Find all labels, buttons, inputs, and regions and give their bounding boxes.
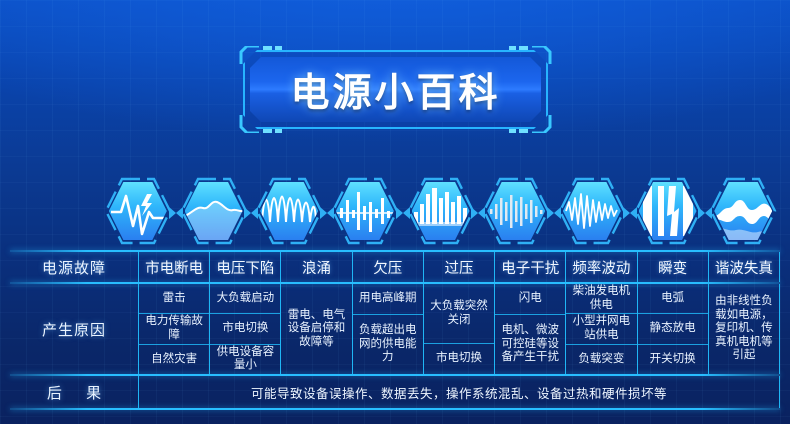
hex-icon-cell [100, 173, 176, 249]
cause-cell: 闪电 [495, 284, 565, 314]
column-header: 浪涌 [302, 257, 331, 278]
table-rule [10, 408, 780, 410]
table-column: 瞬变 [637, 252, 708, 282]
hex-icon-cell [478, 173, 554, 249]
row-label-result: 后 果 [10, 376, 138, 408]
cause-cell-merged: 由非线性负载如电源，复印机、传真机电机等引起 [709, 284, 779, 374]
table-column: 谐波失真 [708, 252, 780, 282]
title-banner: 电源小百科 [243, 50, 548, 129]
cause-cell: 自然灾害 [139, 344, 209, 374]
table-column: 柴油发电机供电 小型并网电站供电 负载突变 [565, 284, 636, 374]
table-column: 雷电、电气设备启停和故障等 [280, 284, 351, 374]
cause-cell: 供电设备容量小 [210, 344, 280, 374]
column-header: 过压 [444, 257, 473, 278]
hex-icon-cell [403, 173, 479, 249]
cause-cell: 静态放电 [638, 313, 708, 343]
table-header-row: 电源故障 市电断电 电压下陷 浪涌 欠压 过压 电子干扰 频率波动 瞬变 谐波失… [10, 252, 780, 282]
table-column: 电弧 静态放电 开关切换 [637, 284, 708, 374]
fault-table: 电源故障 市电断电 电压下陷 浪涌 欠压 过压 电子干扰 频率波动 瞬变 谐波失… [10, 250, 780, 410]
table-result-row: 后 果 可能导致设备误操作、数据丢失，操作系统混乱、设备过热和硬件损坏等 [10, 376, 780, 408]
table-column: 大负载启动 市电切换 供电设备容量小 [209, 284, 280, 374]
cause-cell: 负载突变 [566, 344, 636, 374]
row-label-cause: 产生原因 [10, 284, 138, 374]
table-column: 由非线性负载如电源，复印机、传真机电机等引起 [708, 284, 780, 374]
table-column: 雷击 电力传输故障 自然灾害 [138, 284, 209, 374]
table-column: 用电高峰期 负载超出电网的供电能力 [352, 284, 423, 374]
column-header: 欠压 [373, 257, 402, 278]
table-cause-row: 产生原因 雷击 电力传输故障 自然灾害 大负载启动 市电切换 供电设备容量小 雷… [10, 284, 780, 374]
cause-cell: 柴油发电机供电 [566, 284, 636, 313]
table-column: 大负载突然关闭 市电切换 [423, 284, 494, 374]
column-header: 谐波失真 [715, 257, 773, 278]
cause-cell: 市电切换 [210, 313, 280, 343]
cause-cell-merged: 雷电、电气设备启停和故障等 [281, 284, 351, 374]
table-column: 欠压 [352, 252, 423, 282]
cause-cell: 电弧 [638, 284, 708, 313]
cause-cell: 电力传输故障 [139, 313, 209, 343]
cause-cell: 电机、微波可控硅等设备产生干扰 [495, 314, 565, 374]
row-label-fault: 电源故障 [10, 252, 138, 282]
column-header: 瞬变 [658, 257, 687, 278]
cause-cell: 大负载启动 [210, 284, 280, 313]
cause-cell: 负载超出电网的供电能力 [353, 314, 423, 374]
table-column: 电子干扰 [494, 252, 565, 282]
result-text: 可能导致设备误操作、数据丢失，操作系统混乱、设备过热和硬件损坏等 [138, 376, 780, 408]
cause-cell: 市电切换 [424, 343, 494, 374]
table-column: 浪涌 [280, 252, 351, 282]
cause-cell: 用电高峰期 [353, 284, 423, 314]
table-column: 闪电 电机、微波可控硅等设备产生干扰 [494, 284, 565, 374]
banner-panel: 电源小百科 [250, 57, 541, 122]
cause-cell: 雷击 [139, 284, 209, 313]
hex-icon-cell [327, 173, 403, 249]
hex-icon-cell [630, 173, 706, 249]
table-column: 频率波动 [565, 252, 636, 282]
hex-icon-cell [251, 173, 327, 249]
column-header: 市电断电 [145, 257, 203, 278]
page-title: 电源小百科 [290, 62, 500, 118]
cause-cell: 小型并网电站供电 [566, 313, 636, 343]
column-header: 电压下陷 [216, 257, 274, 278]
infographic-root: 电源小百科 [0, 0, 790, 424]
hex-icon-cell [705, 173, 781, 249]
table-column: 电压下陷 [209, 252, 280, 282]
column-header: 频率波动 [572, 257, 630, 278]
cause-cell: 大负载突然关闭 [424, 284, 494, 343]
table-column: 过压 [423, 252, 494, 282]
hex-icon-cell [554, 173, 630, 249]
column-header: 电子干扰 [501, 257, 559, 278]
cause-cell: 开关切换 [638, 344, 708, 374]
table-column: 市电断电 [138, 252, 209, 282]
hex-icon-cell [176, 173, 252, 249]
hex-icon-row [100, 173, 781, 249]
